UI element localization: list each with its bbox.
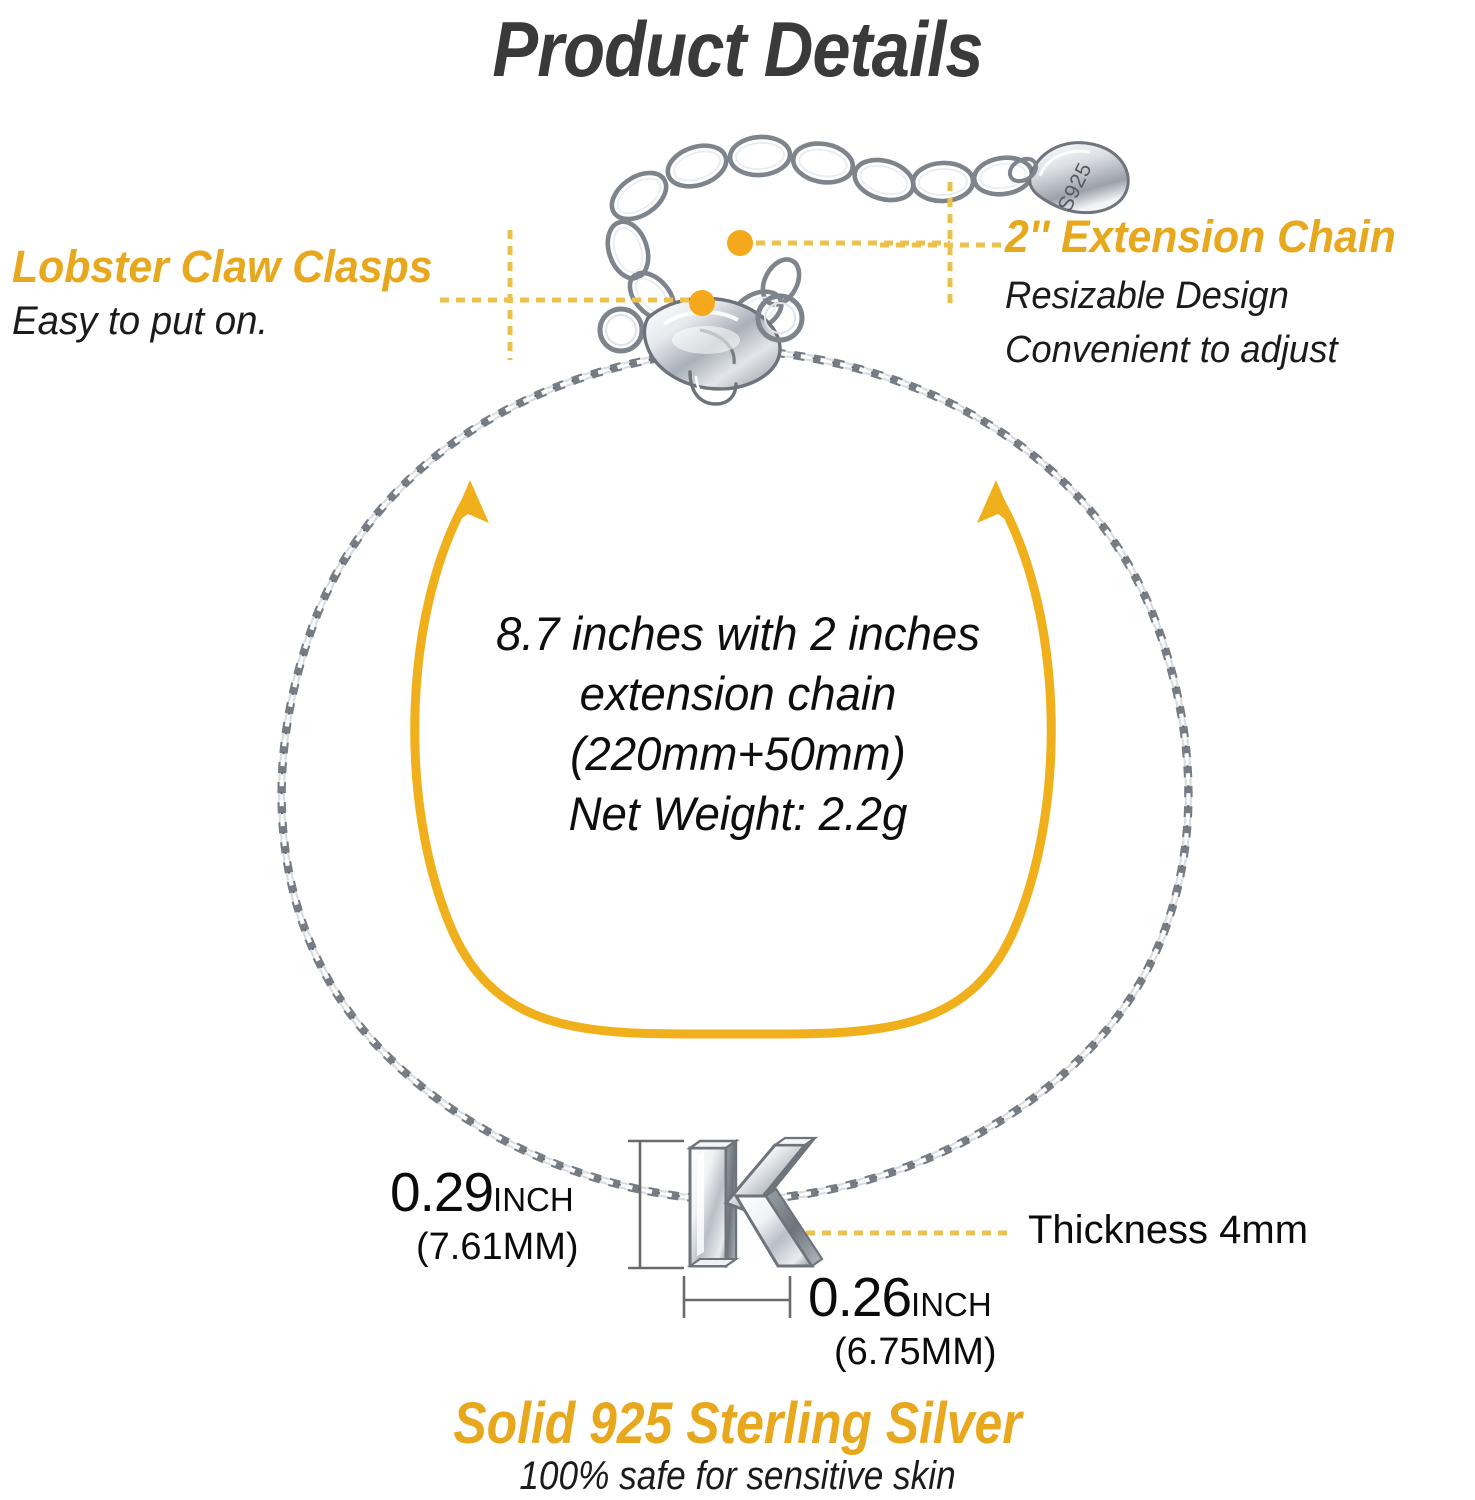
k-initial-pendant	[690, 1138, 822, 1266]
footer-subtext: 100% safe for sensitive skin	[89, 1452, 1387, 1500]
callout-clasp-subtext: Easy to put on.	[12, 298, 437, 344]
anchor-dot-extension	[727, 230, 753, 256]
center-spec-text: 8.7 inches with 2 inches extension chain…	[388, 604, 1088, 844]
callout-extension-line1: Resizable Design	[1005, 274, 1400, 318]
dimension-height-label: 0.29INCH (7.61MM)	[390, 1160, 579, 1269]
dimension-width-value: 0.26	[808, 1266, 911, 1328]
dimension-width-unit: INCH	[911, 1286, 992, 1323]
dimension-width-label: 0.26INCH (6.75MM)	[808, 1265, 997, 1374]
dimension-width-metric: (6.75MM)	[834, 1331, 997, 1374]
dimension-height-unit: INCH	[493, 1181, 574, 1218]
dimension-height-value: 0.29	[390, 1161, 493, 1223]
spec-line-metric: (220mm+50mm)	[399, 724, 1078, 784]
anchor-dot-clasp	[689, 290, 715, 316]
callout-extension-chain: 2'' Extension Chain Resizable Design Con…	[1005, 210, 1416, 372]
callout-clasp-heading: Lobster Claw Clasps	[12, 240, 432, 294]
callout-extension-heading: 2'' Extension Chain	[1005, 210, 1396, 264]
callout-extension-line2: Convenient to adjust	[1005, 328, 1400, 372]
dimension-height-metric: (7.61MM)	[416, 1226, 579, 1269]
s925-quality-tag: S925	[1006, 143, 1128, 216]
spec-line-extension: extension chain	[399, 664, 1078, 724]
spec-line-weight: Net Weight: 2.2g	[399, 784, 1078, 844]
callout-lobster-clasp: Lobster Claw Clasps Easy to put on.	[12, 240, 455, 344]
infographic-canvas: Product Details	[0, 0, 1475, 1500]
footer-heading: Solid 925 Sterling Silver	[103, 1390, 1372, 1458]
spec-line-length: 8.7 inches with 2 inches	[399, 604, 1078, 664]
dimension-thickness-label: Thickness 4mm	[1028, 1208, 1308, 1253]
